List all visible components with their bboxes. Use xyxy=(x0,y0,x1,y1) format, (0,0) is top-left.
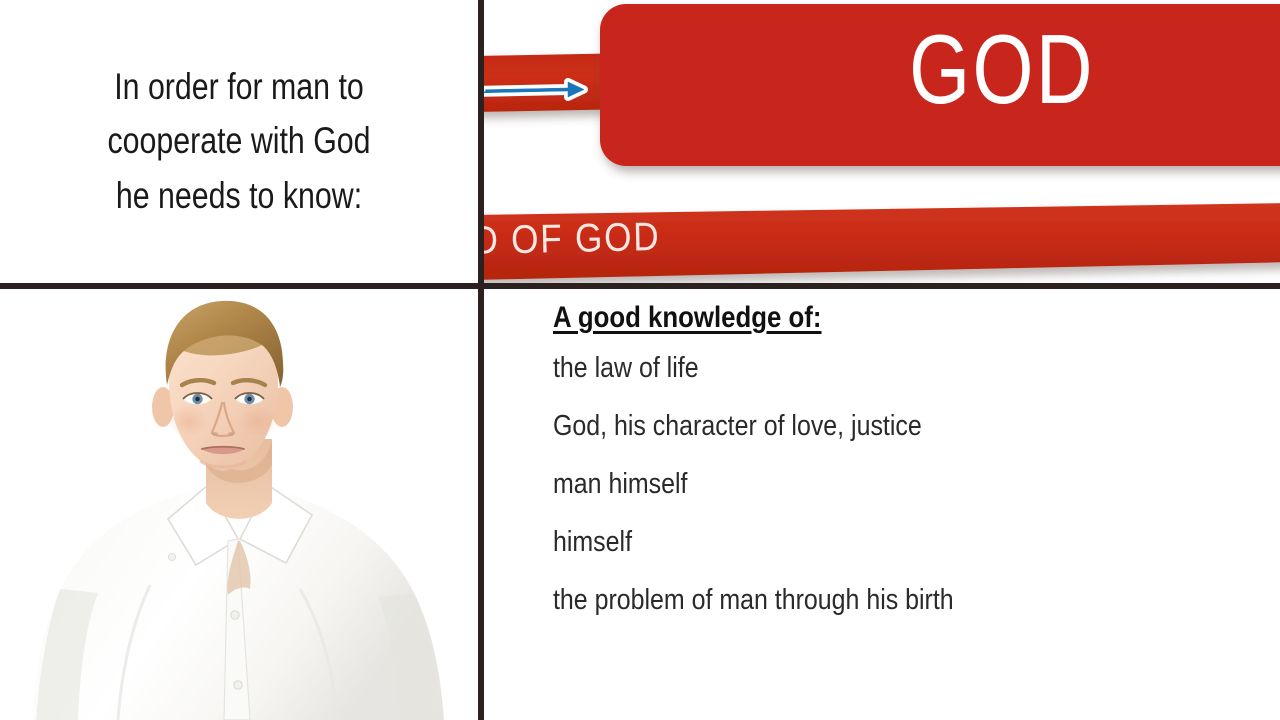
list-item: God, his character of love, justice xyxy=(553,397,1155,455)
prompt-panel: In order for man to cooperate with God h… xyxy=(0,0,478,283)
knowledge-list-heading: A good knowledge of: xyxy=(553,303,821,333)
prompt-text: In order for man to cooperate with God h… xyxy=(79,60,399,222)
banner-label: D OF GOD xyxy=(484,214,661,263)
slide-canvas: In order for man to cooperate with God h… xyxy=(0,0,1280,720)
person-photo xyxy=(0,289,478,720)
knowledge-list: the law of life God, his character of lo… xyxy=(553,339,1253,629)
vertical-divider-top xyxy=(478,0,484,292)
list-item: the problem of man through his birth xyxy=(553,571,1155,629)
list-item: the law of life xyxy=(553,339,1155,397)
list-item: himself xyxy=(553,513,1155,571)
god-box-label: GOD xyxy=(909,15,1095,124)
horizontal-divider xyxy=(0,283,1280,289)
person-photo-panel xyxy=(0,289,478,720)
list-item: man himself xyxy=(553,455,1155,513)
vertical-divider-bottom xyxy=(478,292,484,720)
diagram-panel: GOD D OF GOD xyxy=(484,0,1280,283)
knowledge-list-panel: A good knowledge of: the law of life God… xyxy=(484,289,1280,720)
